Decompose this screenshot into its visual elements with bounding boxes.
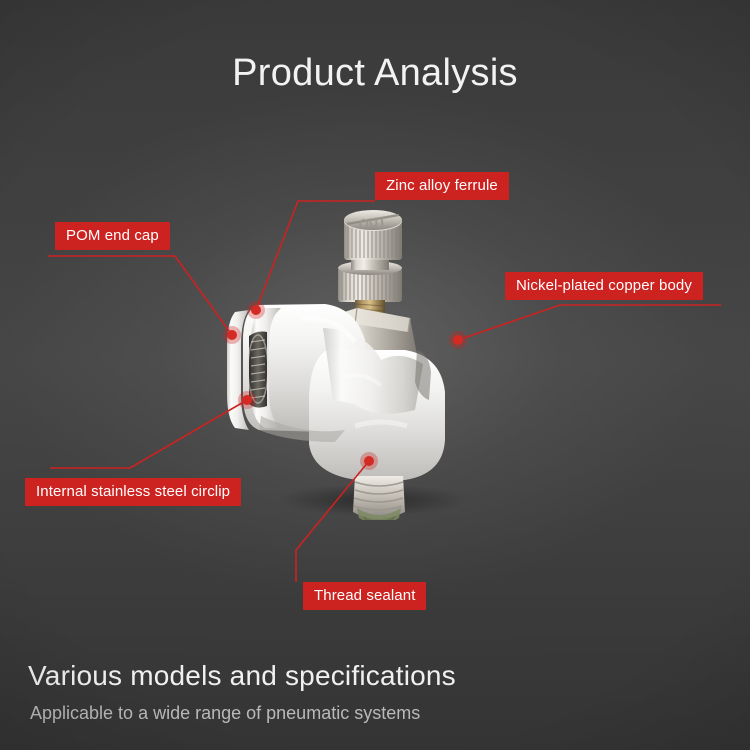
callout-thread-sealant[interactable]: Thread sealant [303,582,426,610]
callout-pom-end-cap[interactable]: POM end cap [55,222,170,250]
stainless-circlip [248,332,268,408]
footer-subtext: Applicable to a wide range of pneumatic … [30,703,420,724]
page-title: Product Analysis [0,52,750,95]
callout-zinc-alloy-ferrule[interactable]: Zinc alloy ferrule [375,172,509,200]
footer-headline: Various models and specifications [28,660,456,692]
callout-nickel-plated-copper-body[interactable]: Nickel-plated copper body [505,272,703,300]
product-illustration: OUT [205,200,525,520]
male-thread [353,476,405,520]
product-analysis-infographic: OUT [0,0,750,750]
adjust-knob: OUT [344,210,402,260]
plastic-elbow [243,304,445,480]
product-image: OUT [205,200,525,520]
callout-internal-stainless-steel-circlip[interactable]: Internal stainless steel circlip [25,478,241,506]
